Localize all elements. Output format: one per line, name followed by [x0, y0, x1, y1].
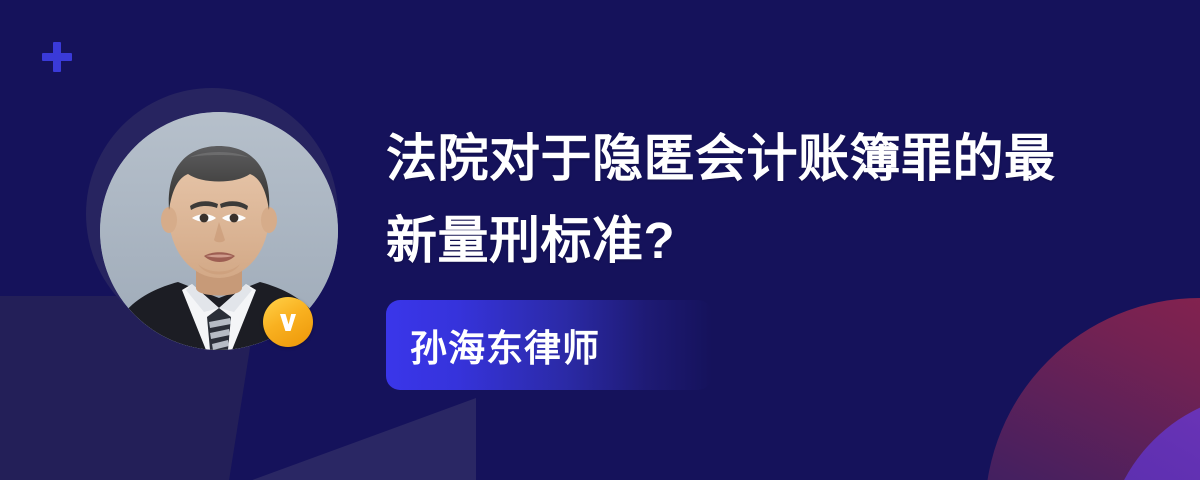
text-content: 法院对于隐匿会计账簿罪的最新量刑标准? 孙海东律师 [386, 118, 1086, 282]
avatar[interactable] [86, 88, 338, 340]
lawyer-name-badge[interactable]: 孙海东律师 [386, 300, 712, 390]
lawyer-question-banner: 法院对于隐匿会计账簿罪的最新量刑标准? 孙海东律师 [0, 0, 1200, 480]
page-title: 法院对于隐匿会计账簿罪的最新量刑标准? [386, 118, 1086, 282]
lawyer-name-label: 孙海东律师 [410, 318, 600, 372]
verified-v-icon [263, 297, 313, 347]
plus-icon-vertical-bar [53, 42, 61, 72]
plus-icon [42, 42, 72, 72]
